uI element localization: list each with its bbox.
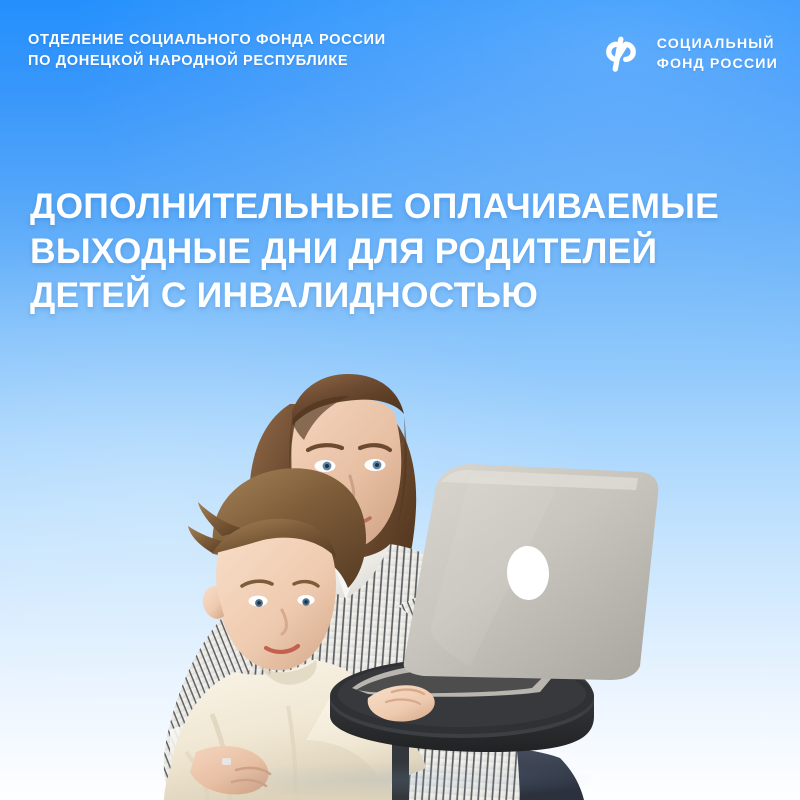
sfr-monogram-icon (598, 31, 644, 77)
page-title: ДОПОЛНИТЕЛЬНЫЕ ОПЛАЧИВАЕМЫЕ ВЫХОДНЫЕ ДНИ… (30, 184, 760, 318)
poster-canvas: ОТДЕЛЕНИЕ СОЦИАЛЬНОГО ФОНДА РОССИИ ПО ДО… (0, 0, 800, 800)
poster-header: ОТДЕЛЕНИЕ СОЦИАЛЬНОГО ФОНДА РОССИИ ПО ДО… (0, 0, 800, 100)
brand-name: СОЦИАЛЬНЫЙ ФОНД РОССИИ (657, 34, 778, 75)
brand-lockup: СОЦИАЛЬНЫЙ ФОНД РОССИИ (598, 30, 778, 77)
organization-title: ОТДЕЛЕНИЕ СОЦИАЛЬНОГО ФОНДА РОССИИ ПО ДО… (28, 30, 386, 71)
photo-illustration (0, 300, 800, 800)
